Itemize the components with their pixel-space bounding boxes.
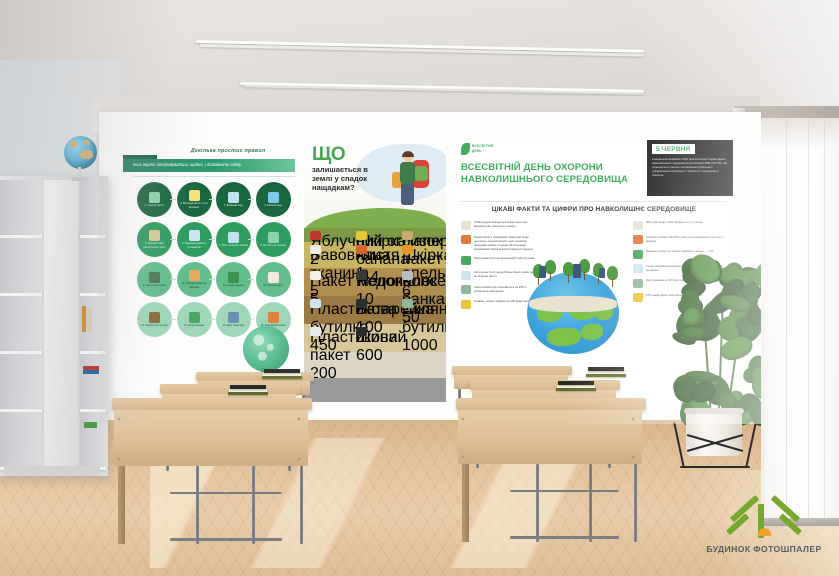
rule-bubble: 9. Їзди велосипедом	[137, 262, 172, 297]
book	[228, 392, 268, 395]
rule-bubble-label: 7. Пий з власної склянки	[219, 244, 249, 247]
book	[230, 385, 266, 388]
plastic-bottle-icon	[310, 299, 321, 308]
fact-icon	[633, 279, 643, 288]
book	[558, 381, 594, 384]
arrow-connector	[209, 239, 215, 240]
rule-bubble-label: 12. Економ папiр	[258, 284, 288, 287]
desk-cross-rail	[226, 492, 282, 494]
rule-bubble-label: 13. Компостуй органiку	[140, 324, 170, 327]
arrow-connector	[170, 239, 176, 240]
rule-bubble: 3. Вимикай воду	[216, 182, 251, 217]
tap-icon	[228, 192, 239, 203]
desk-foot-rail	[510, 536, 566, 539]
watermark-logo: БУДИНОК ФОТОШПАЛЕР	[694, 504, 834, 566]
arrow-connector	[248, 319, 254, 320]
fact-row: 40% усієї води у світі продається у пляш…	[633, 220, 727, 230]
tree-trunk	[584, 272, 586, 280]
desk-leg	[589, 464, 592, 542]
fact-icon	[633, 293, 643, 302]
plant-stand-leg-right	[745, 422, 757, 467]
desk-screw	[462, 418, 464, 420]
bookcase-cavity	[0, 238, 42, 293]
desk-leg	[252, 466, 255, 544]
landmass	[581, 324, 603, 340]
arrow-connector	[209, 319, 215, 320]
car-icon	[228, 312, 239, 323]
bookcase-column-right	[80, 180, 106, 472]
desk-screw	[632, 456, 634, 458]
desk-leg	[634, 464, 637, 542]
tree-trunk	[612, 279, 614, 287]
bookcase-cavity	[0, 354, 42, 409]
rule-bubble-label: 10. Обирай товар без упаковки	[179, 282, 209, 288]
poster-day-resolution-text: Генеральна Асамблея ООН проголосила 5 че…	[652, 157, 728, 177]
bookcase-cavity	[0, 412, 42, 467]
book	[84, 422, 97, 428]
fact-icon	[461, 221, 471, 230]
book-stack-right-front	[556, 378, 598, 394]
fact-text: 27000 дерев знищується кожен день для ви…	[474, 220, 539, 228]
book	[557, 385, 595, 388]
arrow-connector	[170, 199, 176, 200]
desk-top	[456, 398, 646, 410]
desk-top	[452, 366, 572, 375]
sun-icon	[758, 528, 771, 536]
bread-icon	[189, 270, 200, 281]
curtain-fold	[786, 118, 787, 520]
bookcase-cavity	[80, 180, 106, 235]
desk-leg	[536, 464, 539, 542]
desk-leg	[118, 466, 125, 544]
rule-bubble-label: 11. Садiть дерева	[219, 284, 249, 287]
fact-icon	[633, 235, 643, 244]
arrow-connector	[170, 319, 176, 320]
rule-bubble: 12. Економ папiр	[256, 262, 291, 297]
arrow-connector	[248, 279, 254, 280]
window-icon	[189, 230, 200, 241]
bookcase-cavity	[0, 296, 42, 351]
recycle-triangle-icon	[189, 312, 200, 323]
bookcase-cavity	[80, 412, 106, 467]
rule-bubble-label: 6. Надавай перевагу сезоннiй їжi	[179, 242, 209, 248]
rule-bubble-label: 1. Сортуй смiття	[140, 204, 170, 207]
book	[556, 388, 596, 391]
desk-screw	[118, 458, 120, 460]
book-stack-left-mid	[262, 366, 304, 382]
earth-globe-with-trees-and-buildings-icon	[527, 258, 621, 354]
rule-bubble-label: 5. Використовуй багаторазовi торби	[140, 242, 170, 248]
date-badge: 5 ЧЕРВНЯ	[652, 144, 695, 154]
environment-day-logo-icon: ВСЕСВIТНIЙ ДЕНЬ	[461, 142, 501, 156]
rule-bubble-label: 3. Вимикай воду	[219, 204, 249, 207]
desk-foot-rail	[226, 538, 282, 541]
curtain-header	[761, 118, 839, 148]
book	[587, 371, 625, 374]
fact-row: 27000 дерев знищується кожен день для ви…	[461, 220, 539, 230]
book	[229, 389, 267, 392]
fact-row: Переробляє 1 алюмінієвої банки вистачає …	[461, 235, 539, 251]
tree-trunk	[538, 277, 540, 285]
desk-leg	[300, 466, 303, 544]
fact-row: Скільки потрібно 400-500 років для розкл…	[633, 235, 727, 245]
pot-rim	[684, 408, 744, 414]
tin-can-icon	[402, 271, 413, 280]
arrow-connector	[209, 199, 215, 200]
rule-bubble: 10. Обирай товар без упаковки	[177, 262, 212, 297]
fact-icon	[461, 285, 471, 294]
poster-soil-headline-big: ЩО	[312, 146, 345, 163]
classroom-scene: Декілька простих правил яких варто дотри…	[0, 0, 839, 576]
plant-stand-base	[680, 466, 750, 468]
desk-front-panel	[458, 410, 642, 464]
bookcase-cavity	[80, 238, 106, 293]
desk-cross-rail	[170, 492, 226, 494]
poster-day-facts-heading: ЦІКАВІ ФАКТИ ТА ЦИФРИ ПРО НАВКОЛИШНЄ СЕР…	[461, 206, 727, 213]
book	[87, 308, 92, 332]
desk-screw	[298, 418, 300, 420]
fact-text: Скільки потрібно 400-500 років для розкл…	[646, 235, 727, 243]
divider	[133, 176, 295, 177]
landmass	[547, 328, 581, 346]
plant-stand-leg-left	[673, 422, 685, 467]
orange-peel-icon	[402, 245, 413, 254]
rule-bubble: 2. Вимикай свiтло, коли виходиш	[177, 182, 212, 217]
plastic-bag-icon	[310, 327, 321, 336]
bookcase-column-middle-door	[44, 180, 78, 472]
desk-screw	[298, 458, 300, 460]
apple-core-icon	[310, 231, 321, 240]
milk-carton-icon	[310, 271, 321, 280]
recycle-bin-icon	[149, 192, 160, 203]
fact-icon	[633, 250, 643, 259]
book	[82, 306, 86, 332]
battery-icon	[356, 299, 367, 308]
desk-foot-rail	[170, 538, 226, 541]
cigarette-butt-icon	[356, 271, 367, 280]
hiker-with-backpack-icon	[390, 152, 430, 214]
building-icon	[573, 264, 581, 278]
tree-trunk	[550, 273, 552, 281]
lightbulb-icon	[189, 190, 200, 201]
rule-bubble: 13. Компостуй органiку	[137, 302, 172, 337]
poster-rules-ribbon: яких варто дотримуватись щодня, і допомо…	[123, 159, 295, 172]
desk-cross-rail	[563, 490, 619, 492]
desk-cross-rail	[510, 490, 566, 492]
bicycle-icon	[149, 272, 160, 283]
decomposition-item: Шина600	[356, 329, 397, 365]
bookcase-column-left	[0, 180, 42, 472]
nature-icon	[268, 232, 279, 243]
leaves-icon	[356, 245, 367, 254]
rule-bubble-label: 14. Купуй мiсцеве	[179, 324, 209, 327]
book-stack-right-mid	[586, 364, 628, 380]
fact-text: Переробляє 1 алюмінієвої банки вистачає …	[474, 235, 539, 251]
desk-leg	[196, 466, 199, 544]
logo-line-1: ВСЕСВIТНIЙ	[472, 144, 494, 148]
decomposition-time-badge: 600	[356, 347, 397, 365]
bookcase-base	[4, 466, 100, 476]
fact-icon	[461, 300, 471, 309]
rule-bubble: 11. Садiть дерева	[216, 262, 251, 297]
megaphone-icon	[268, 312, 279, 323]
poster-what-remains-in-soil: ЩО залишається в землі у спадок нащадкам…	[304, 140, 446, 402]
rule-bubble-label: 9. Їзди велосипедом	[140, 284, 170, 287]
poster-day-dark-panel: 5 ЧЕРВНЯ Генеральна Асамблея ООН проголо…	[647, 140, 733, 196]
desk-front-panel	[114, 410, 308, 466]
poster-rules-title: Декілька простих правил	[163, 148, 293, 154]
soil-strata-layers: Яблучний огризок2Шкiрка банана3-4Паперов…	[304, 228, 446, 402]
book	[262, 376, 302, 379]
paper-icon	[268, 272, 279, 283]
watermark-text: БУДИНОК ФОТОШПАЛЕР	[694, 544, 834, 554]
rule-bubble: 7. Пий з власної склянки	[216, 222, 251, 257]
rule-bubble: 8. Не смiти на природi	[256, 222, 291, 257]
paper-bag-icon	[402, 231, 413, 240]
poster-simple-rules: Декілька простих правил яких варто дотри…	[133, 146, 295, 398]
rule-bubble: 1. Сортуй смiття	[137, 182, 172, 217]
poster-day-title: ВСЕСВІТНІЙ ДЕНЬ ОХОРОНИ НАВКОЛИШНЬОГО СЕ…	[461, 162, 647, 186]
divider	[461, 201, 727, 202]
desk-leg	[462, 464, 469, 542]
decomposition-time-badge: 200	[310, 365, 446, 383]
curtain-fold	[824, 118, 825, 520]
desk-screw	[632, 418, 634, 420]
book	[263, 373, 301, 376]
book	[83, 370, 99, 374]
building-icon	[599, 268, 605, 278]
rule-bubble: 5. Використовуй багаторазовi торби	[137, 222, 172, 257]
bookcase-cavity	[80, 354, 106, 409]
fact-text: Папір може бути перероблений 5 (або 6) р…	[474, 256, 535, 260]
glass-bottle-icon	[402, 299, 413, 308]
cotton-cloth-icon	[310, 245, 321, 254]
banana-peel-icon	[356, 231, 367, 240]
shopping-bag-icon	[149, 230, 160, 241]
logo-line-2: ДЕНЬ	[472, 149, 482, 153]
poster-rules-ribbon-text: яких варто дотримуватись щодня, і допомо…	[133, 162, 241, 167]
fact-icon	[461, 235, 471, 244]
fact-icon	[461, 271, 471, 280]
desk-globe	[60, 136, 100, 182]
globe-sphere	[527, 272, 619, 354]
rule-bubble-label: 2. Вимикай свiтло, коли виходиш	[179, 202, 209, 208]
arrow-connector	[248, 239, 254, 240]
globe-ground-strip	[529, 296, 617, 312]
curtain-inner	[765, 118, 795, 520]
rule-bubble-label: 4. Економ воду	[258, 204, 288, 207]
window-with-sheer-curtains	[761, 118, 839, 520]
book	[264, 369, 300, 372]
fact-icon	[633, 264, 643, 273]
book	[588, 367, 624, 370]
glass-icon	[228, 232, 239, 243]
white-bookcase	[0, 176, 114, 492]
fact-icon	[633, 221, 643, 230]
curtain-fold	[808, 118, 809, 520]
building-icon	[539, 266, 546, 278]
fact-icon	[461, 256, 471, 265]
book	[586, 374, 626, 377]
arrow-connector	[248, 199, 254, 200]
rubber-tire-icon	[356, 327, 367, 336]
desk-foot-rail	[563, 536, 619, 539]
desk-screw	[118, 418, 120, 420]
arrow-connector	[209, 279, 215, 280]
green-house-roof-with-sun-logo	[728, 504, 800, 542]
desk-top	[112, 398, 312, 410]
water-drop-icon	[268, 192, 279, 203]
tree-icon	[607, 266, 618, 280]
desk-screw	[462, 456, 464, 458]
rule-bubble: 6. Надавай перевагу сезоннiй їжi	[177, 222, 212, 257]
compost-icon	[149, 312, 160, 323]
curtain-outer	[793, 118, 839, 520]
rules-bubble-grid: 1. Сортуй смiття2. Вимикай свiтло, коли …	[137, 182, 291, 337]
fact-text: Травень: кожен тиждень на 100 видів зник…	[474, 299, 533, 303]
rule-bubble: 14. Купуй мiсцеве	[177, 302, 212, 337]
bookcase-cavity	[0, 180, 42, 235]
poster-soil-headline-rest: залишається в землі у спадок нащадкам?	[312, 166, 376, 193]
arrow-connector	[170, 279, 176, 280]
book-stack-left-front	[228, 382, 270, 398]
tree-icon	[545, 260, 556, 274]
fact-text: 40% усієї води у світі продається у пляш…	[646, 220, 704, 224]
rule-bubble: 4. Економ воду	[256, 182, 291, 217]
tree-trunk	[568, 275, 570, 283]
rule-bubble-label: 8. Не смiти на природi	[258, 244, 288, 247]
tree-icon	[228, 272, 239, 283]
